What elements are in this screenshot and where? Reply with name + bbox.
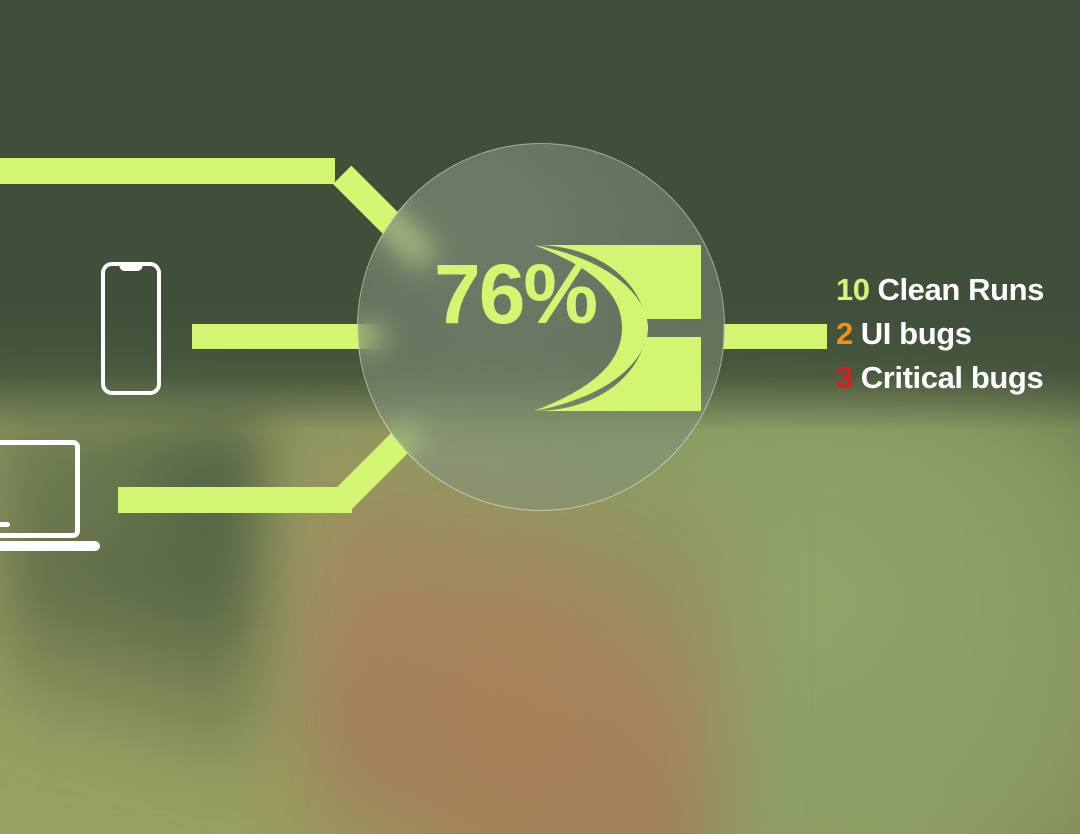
smartphone-notch-icon <box>120 264 143 271</box>
laptop-base-icon <box>0 541 100 551</box>
connector-line-bottom-horizontal <box>118 487 352 513</box>
legend-label-critical-bugs: Critical bugs <box>861 360 1044 396</box>
legend-label-clean-runs: Clean Runs <box>877 272 1044 308</box>
crescent-c-logo-icon <box>526 239 701 417</box>
percentage-badge: 76% <box>357 143 725 511</box>
laptop-screen-icon <box>0 440 80 538</box>
legend-count-ui-bugs: 2 <box>836 316 853 352</box>
smartphone-icon <box>101 262 161 395</box>
legend-count-critical-bugs: 3 <box>836 360 853 396</box>
laptop-icon <box>0 440 90 565</box>
background-green-right <box>620 380 1080 834</box>
legend-item-ui-bugs: 2 UI bugs <box>836 316 1066 360</box>
laptop-keyboard-icon <box>0 522 10 527</box>
legend-count-clean-runs: 10 <box>836 272 869 308</box>
connector-line-top-horizontal <box>0 158 335 184</box>
background-brown-band <box>285 456 735 834</box>
background-brown-core <box>360 560 660 834</box>
legend: 10 Clean Runs 2 UI bugs 3 Critical bugs <box>836 272 1066 404</box>
connector-line-middle-left <box>192 324 382 349</box>
legend-label-ui-bugs: UI bugs <box>861 316 972 352</box>
infographic-scene: 76% 10 Clean Runs 2 UI bugs 3 Critical b… <box>0 0 1080 834</box>
connector-line-right <box>723 324 827 349</box>
legend-item-clean-runs: 10 Clean Runs <box>836 272 1066 316</box>
legend-item-critical-bugs: 3 Critical bugs <box>836 360 1066 404</box>
